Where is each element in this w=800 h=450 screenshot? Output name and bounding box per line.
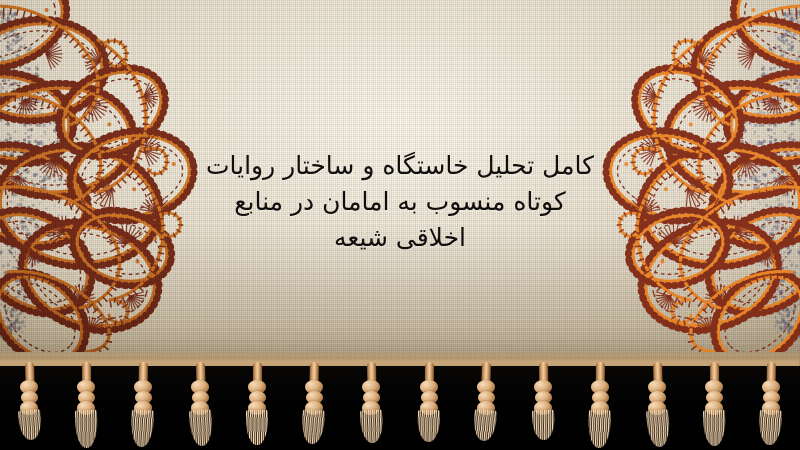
tassel-skirt (75, 410, 98, 448)
tassel-skirt (646, 409, 671, 448)
textile-title-card: کامل تحلیل خاستگاه و ساختار روایات کوتاه… (0, 0, 800, 450)
tassel-skirt (472, 409, 496, 442)
ornament-corner-top-right (536, 0, 800, 352)
tassel-skirt (130, 409, 154, 447)
tassel (473, 362, 499, 448)
tassel-skirt (417, 410, 439, 442)
tassel-skirt (703, 410, 726, 446)
tassel (701, 362, 727, 448)
tassel (73, 362, 99, 448)
tassel (644, 362, 670, 448)
tassel-skirt (360, 409, 384, 443)
tassel-skirt (18, 409, 42, 441)
ornament-corner-top-left (0, 0, 264, 352)
tassel (587, 362, 613, 448)
tassel (416, 362, 442, 448)
tassel-skirt (189, 409, 213, 446)
tassel (301, 362, 327, 448)
tassel (358, 362, 384, 448)
tassel (244, 362, 270, 448)
tassel-skirt (532, 410, 555, 441)
tassel (16, 362, 42, 448)
tassel (758, 362, 784, 448)
tassel-fringe (0, 362, 800, 450)
tassel (187, 362, 213, 448)
tassel-skirt (759, 409, 783, 445)
tassel-skirt (246, 410, 268, 445)
tassel-skirt (588, 410, 611, 449)
tassel (130, 362, 156, 448)
tassel (530, 362, 556, 448)
tassel-skirt (301, 409, 325, 444)
